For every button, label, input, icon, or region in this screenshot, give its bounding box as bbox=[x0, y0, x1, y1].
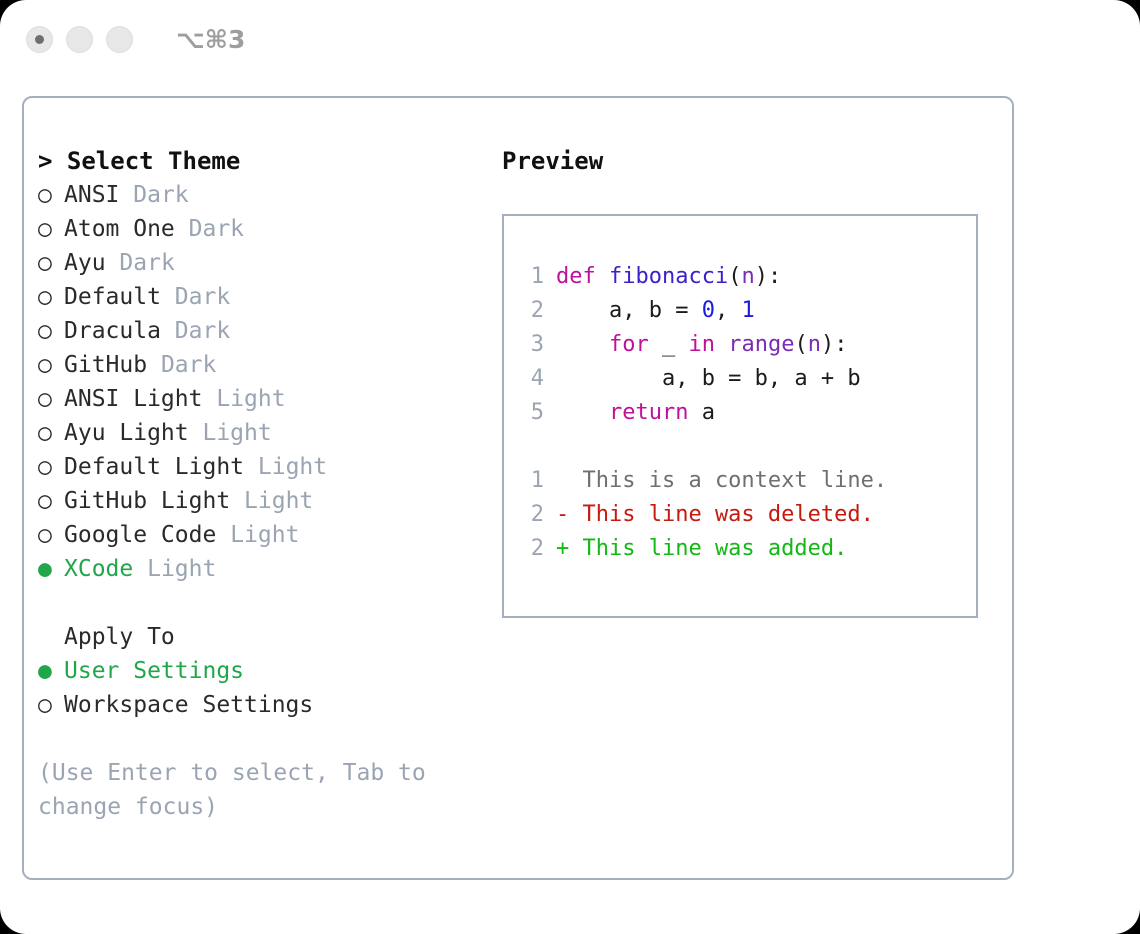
theme-option-default[interactable]: ○Default Dark bbox=[38, 280, 488, 314]
code-token bbox=[556, 400, 609, 425]
code-token: fibonacci bbox=[609, 264, 728, 289]
theme-option-default-light[interactable]: ○Default Light Light bbox=[38, 450, 488, 484]
radio-unselected-icon: ○ bbox=[38, 518, 64, 552]
radio-unselected-icon: ○ bbox=[38, 348, 64, 382]
active-dot-indicator bbox=[35, 35, 44, 44]
window-control-dot-2[interactable] bbox=[66, 26, 93, 53]
theme-option-ayu[interactable]: ○Ayu Dark bbox=[38, 246, 488, 280]
theme-option-github[interactable]: ○GitHub Dark bbox=[38, 348, 488, 382]
theme-name-label: GitHub bbox=[64, 352, 147, 378]
window-control-dot-3[interactable] bbox=[106, 26, 133, 53]
code-line-number: 4 bbox=[514, 362, 544, 396]
theme-name-label: ANSI Light bbox=[64, 386, 202, 412]
diff-line-text: This is a context line. bbox=[556, 468, 887, 493]
code-token: n bbox=[741, 264, 754, 289]
theme-variant-label: Light bbox=[258, 454, 327, 480]
diff-line: 2- This line was deleted. bbox=[514, 498, 970, 532]
radio-unselected-icon: ○ bbox=[38, 314, 64, 348]
radio-unselected-icon: ○ bbox=[38, 688, 64, 722]
radio-unselected-icon: ○ bbox=[38, 382, 64, 416]
theme-variant-label: Dark bbox=[133, 182, 188, 208]
radio-selected-icon: ● bbox=[38, 552, 64, 586]
apply-to-option-user-settings[interactable]: ●User Settings bbox=[38, 654, 488, 688]
select-theme-heading: > Select Theme bbox=[38, 144, 488, 178]
code-token bbox=[715, 332, 728, 357]
code-line: 1def fibonacci(n): bbox=[514, 260, 970, 294]
theme-variant-label: Dark bbox=[175, 284, 230, 310]
theme-option-ayu-light[interactable]: ○Ayu Light Light bbox=[38, 416, 488, 450]
diff-line: 1 This is a context line. bbox=[514, 464, 970, 498]
theme-selection-panel: > Select Theme ○ANSI Dark○Atom One Dark○… bbox=[38, 144, 488, 824]
code-line-number: 3 bbox=[514, 328, 544, 362]
theme-variant-label: Light bbox=[216, 386, 285, 412]
theme-variant-label: Dark bbox=[119, 250, 174, 276]
code-token: def bbox=[556, 264, 596, 289]
code-line: 4 a, b = b, a + b bbox=[514, 362, 970, 396]
code-line: 2 a, b = 0, 1 bbox=[514, 294, 970, 328]
theme-variant-label: Dark bbox=[175, 318, 230, 344]
code-token: for bbox=[609, 332, 649, 357]
theme-variant-label: Light bbox=[244, 488, 313, 514]
code-token: a, b = bbox=[556, 298, 702, 323]
code-token: , bbox=[715, 298, 742, 323]
keyboard-shortcut-label: ⌥⌘3 bbox=[176, 25, 245, 54]
theme-option-xcode[interactable]: ●XCode Light bbox=[38, 552, 488, 586]
apply-to-heading: Apply To bbox=[38, 620, 488, 654]
theme-picker-card: > Select Theme ○ANSI Dark○Atom One Dark○… bbox=[22, 96, 1014, 880]
keyboard-hint-text: (Use Enter to select, Tab to change focu… bbox=[38, 756, 443, 824]
theme-option-google-code[interactable]: ○Google Code Light bbox=[38, 518, 488, 552]
code-line-number: 1 bbox=[514, 260, 544, 294]
code-token: return bbox=[609, 400, 688, 425]
diff-line-number: 2 bbox=[514, 498, 544, 532]
preview-panel: Preview 1def fibonacci(n):2 a, b = 0, 13… bbox=[502, 144, 1002, 618]
theme-name-label: Dracula bbox=[64, 318, 161, 344]
code-token: a, b = b, a + b bbox=[556, 366, 861, 391]
radio-unselected-icon: ○ bbox=[38, 416, 64, 450]
code-token: range bbox=[728, 332, 794, 357]
code-token bbox=[596, 264, 609, 289]
radio-unselected-icon: ○ bbox=[38, 212, 64, 246]
code-token: ( bbox=[728, 264, 741, 289]
radio-selected-icon: ● bbox=[38, 654, 64, 688]
theme-variant-label: Light bbox=[147, 556, 216, 582]
code-preview-area: 1def fibonacci(n):2 a, b = 0, 13 for _ i… bbox=[514, 260, 970, 566]
radio-unselected-icon: ○ bbox=[38, 178, 64, 212]
theme-variant-label: Light bbox=[202, 420, 271, 446]
theme-name-label: Atom One bbox=[64, 216, 175, 242]
code-token: ( bbox=[794, 332, 807, 357]
theme-variant-label: Light bbox=[230, 522, 299, 548]
diff-line-number: 1 bbox=[514, 464, 544, 498]
theme-option-ansi-light[interactable]: ○ANSI Light Light bbox=[38, 382, 488, 416]
diff-line: 2+ This line was added. bbox=[514, 532, 970, 566]
code-token: ): bbox=[755, 264, 782, 289]
code-token: 0 bbox=[702, 298, 715, 323]
theme-name-label: Ayu bbox=[64, 250, 106, 276]
window-control-dot-1[interactable] bbox=[26, 26, 53, 53]
theme-variant-label: Dark bbox=[161, 352, 216, 378]
radio-unselected-icon: ○ bbox=[38, 280, 64, 314]
code-token: _ bbox=[649, 332, 689, 357]
code-token: 1 bbox=[741, 298, 754, 323]
theme-option-atom-one[interactable]: ○Atom One Dark bbox=[38, 212, 488, 246]
theme-name-label: Default bbox=[64, 284, 161, 310]
theme-name-label: GitHub Light bbox=[64, 488, 230, 514]
apply-to-list: ●User Settings○Workspace Settings bbox=[38, 654, 488, 722]
theme-name-label: Ayu Light bbox=[64, 420, 189, 446]
code-token: in bbox=[688, 332, 715, 357]
diff-line-number: 2 bbox=[514, 532, 544, 566]
theme-option-dracula[interactable]: ○Dracula Dark bbox=[38, 314, 488, 348]
theme-name-label: ANSI bbox=[64, 182, 119, 208]
syntax-sample-lines: 1def fibonacci(n):2 a, b = 0, 13 for _ i… bbox=[514, 260, 970, 430]
code-line-number: 2 bbox=[514, 294, 544, 328]
radio-unselected-icon: ○ bbox=[38, 246, 64, 280]
apply-to-label: Workspace Settings bbox=[64, 692, 313, 718]
preview-box: 1def fibonacci(n):2 a, b = 0, 13 for _ i… bbox=[502, 214, 978, 618]
diff-sample-lines: 1 This is a context line.2- This line wa… bbox=[514, 464, 970, 566]
code-line: 3 for _ in range(n): bbox=[514, 328, 970, 362]
diff-line-text: + This line was added. bbox=[556, 536, 847, 561]
theme-name-label: XCode bbox=[64, 556, 133, 582]
code-token bbox=[556, 332, 609, 357]
radio-unselected-icon: ○ bbox=[38, 484, 64, 518]
theme-option-github-light[interactable]: ○GitHub Light Light bbox=[38, 484, 488, 518]
diff-line-text: - This line was deleted. bbox=[556, 502, 874, 527]
code-token: a bbox=[688, 400, 715, 425]
code-spacer bbox=[514, 430, 970, 464]
code-token: ): bbox=[821, 332, 848, 357]
code-token: n bbox=[808, 332, 821, 357]
theme-variant-label: Dark bbox=[189, 216, 244, 242]
radio-unselected-icon: ○ bbox=[38, 450, 64, 484]
preview-heading: Preview bbox=[502, 144, 1002, 178]
theme-list: ○ANSI Dark○Atom One Dark○Ayu Dark○Defaul… bbox=[38, 178, 488, 586]
theme-option-ansi[interactable]: ○ANSI Dark bbox=[38, 178, 488, 212]
apply-to-option-workspace-settings[interactable]: ○Workspace Settings bbox=[38, 688, 488, 722]
app-window: ⌥⌘3 > Select Theme ○ANSI Dark○Atom One D… bbox=[0, 0, 1140, 934]
window-titlebar: ⌥⌘3 bbox=[0, 0, 1140, 78]
code-line: 5 return a bbox=[514, 396, 970, 430]
theme-name-label: Default Light bbox=[64, 454, 244, 480]
theme-name-label: Google Code bbox=[64, 522, 216, 548]
code-line-number: 5 bbox=[514, 396, 544, 430]
apply-to-label: User Settings bbox=[64, 658, 244, 684]
